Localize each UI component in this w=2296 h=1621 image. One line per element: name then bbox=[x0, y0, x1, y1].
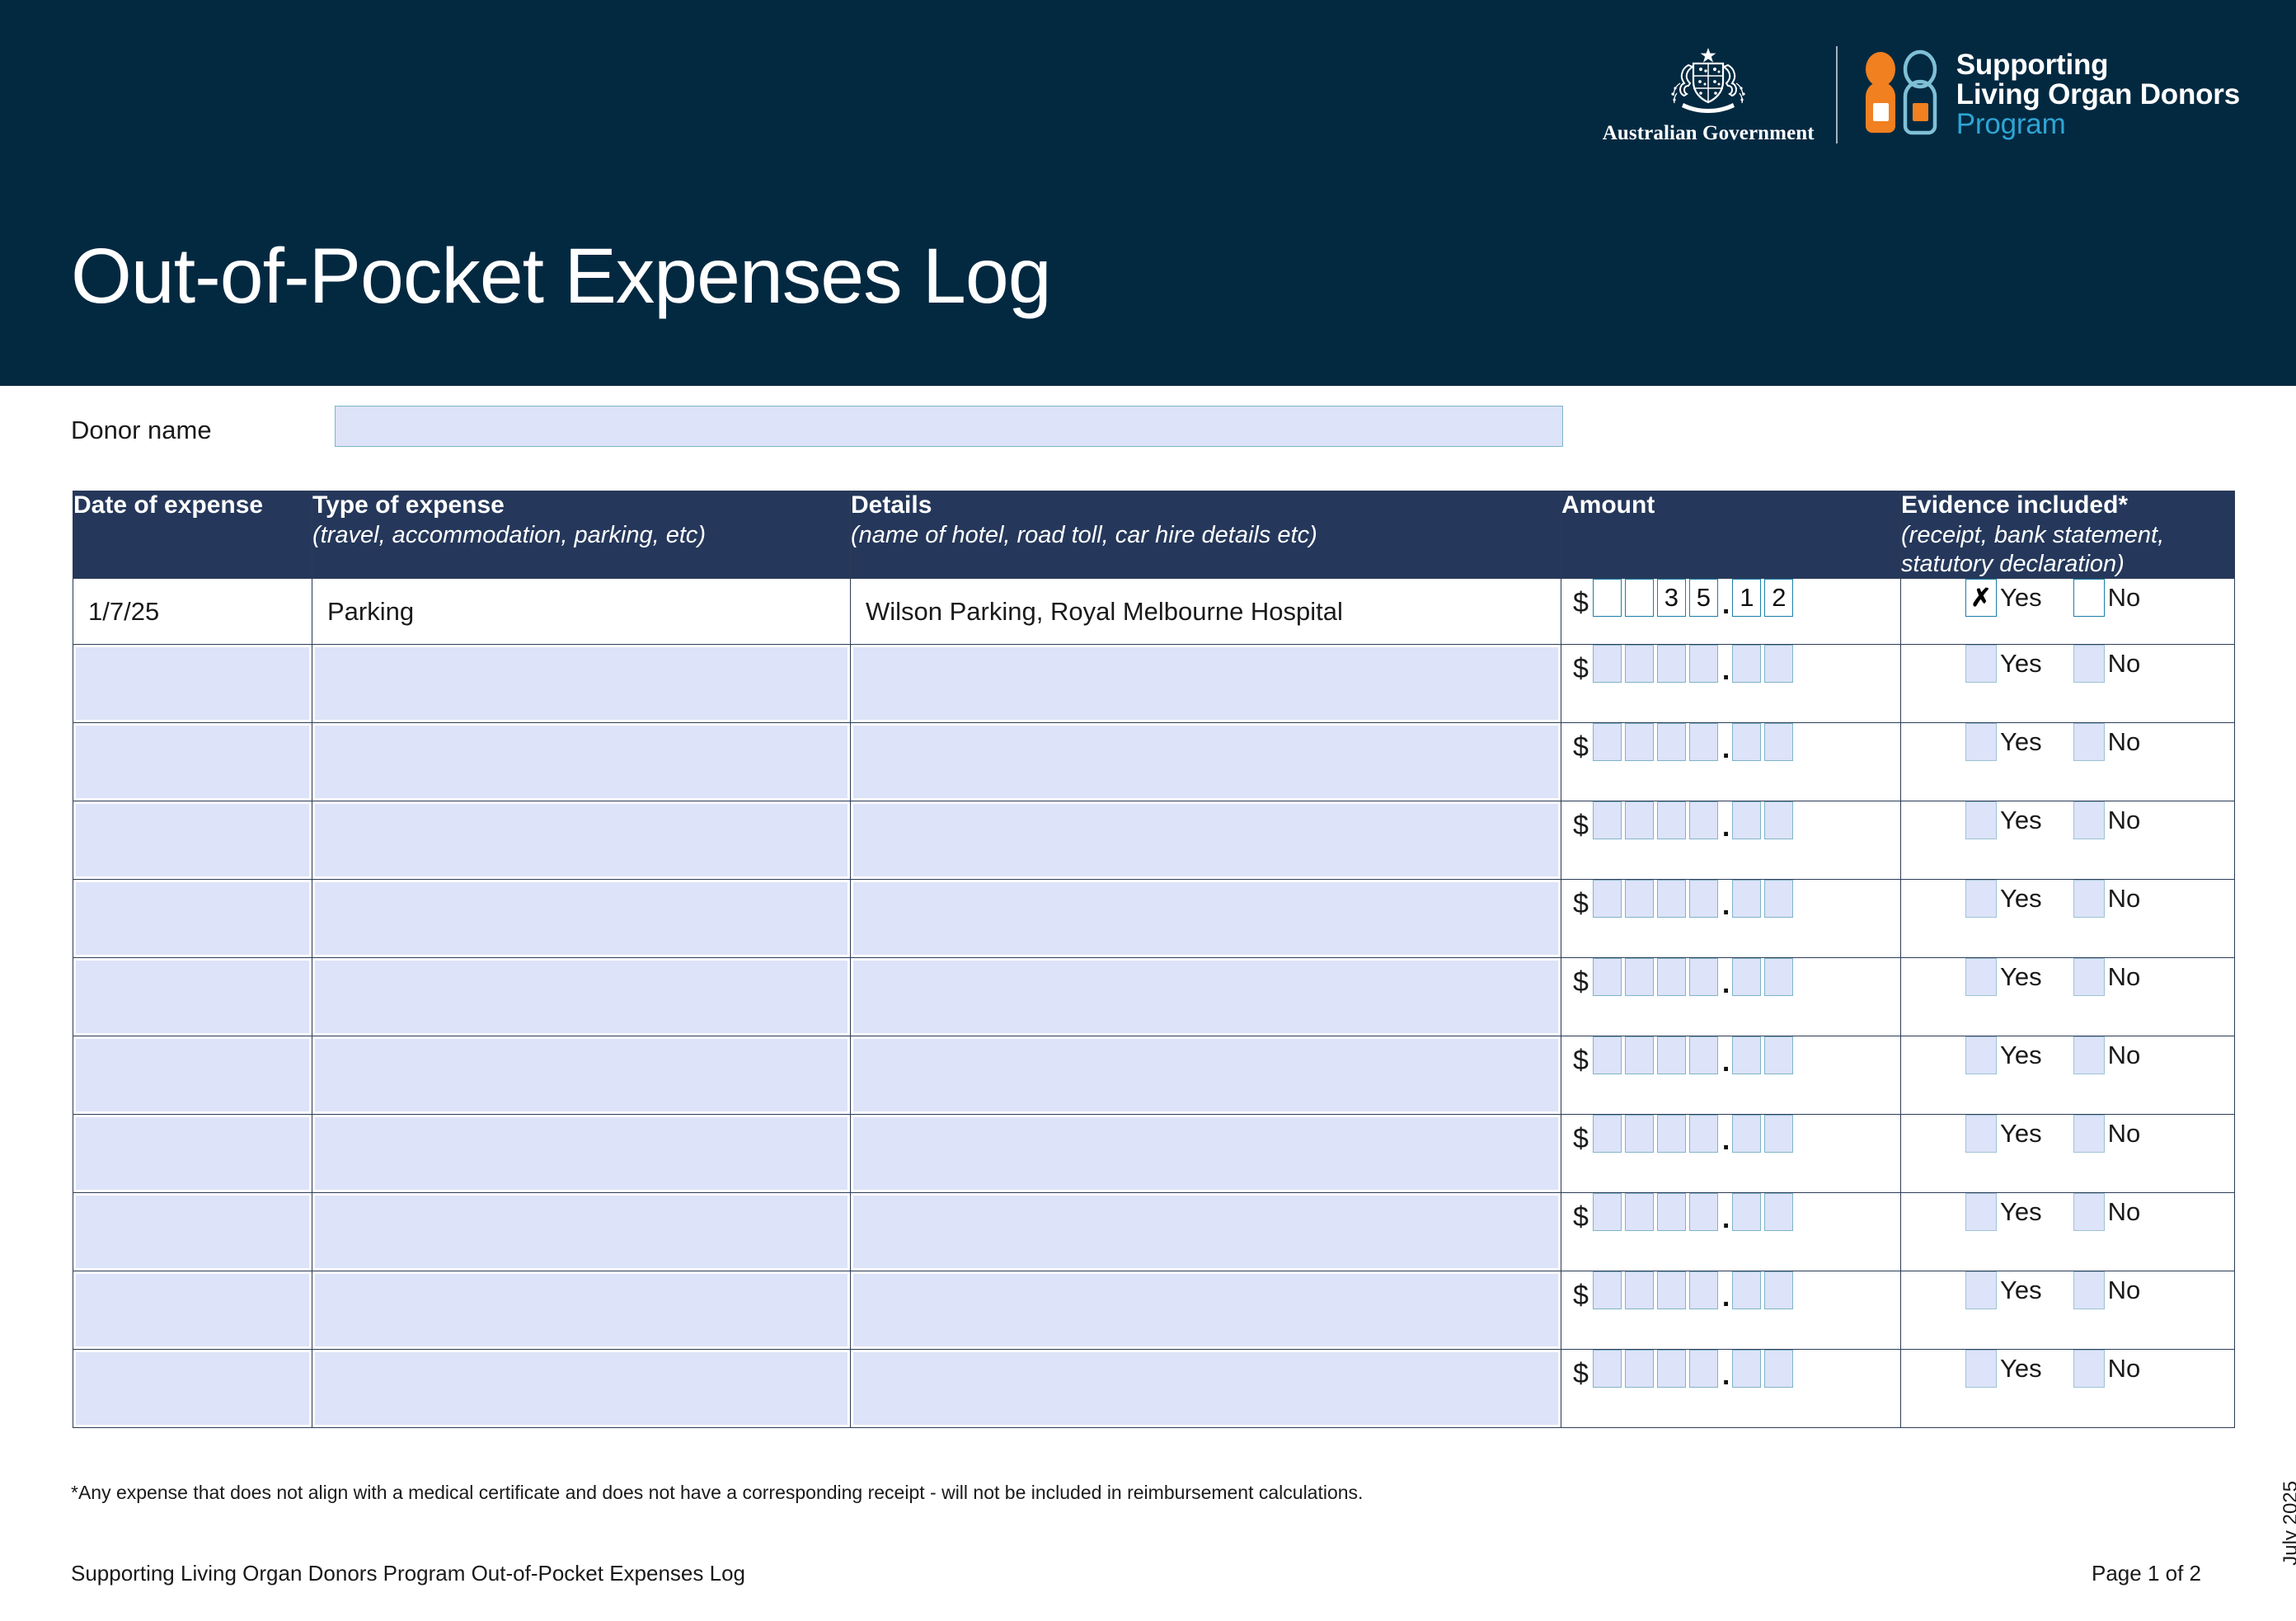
evidence-yes-checkbox[interactable]: ✗ bbox=[1965, 579, 1997, 617]
amount-cents-box[interactable] bbox=[1732, 1350, 1761, 1388]
cell-details[interactable]: Wilson Parking, Royal Melbourne Hospital bbox=[851, 579, 1561, 645]
currency-symbol: $ bbox=[1573, 1360, 1589, 1388]
evidence-no-checkbox[interactable] bbox=[2073, 1193, 2105, 1231]
cell-date[interactable] bbox=[73, 1271, 312, 1350]
amount-boxes: $. bbox=[1561, 1271, 1900, 1309]
logo-lockup: Australian Government Supporting Living … bbox=[1603, 43, 2240, 147]
cell-type[interactable]: Parking bbox=[312, 579, 851, 645]
amount-digit-box[interactable] bbox=[1593, 723, 1622, 761]
amount-boxes: $35.12 bbox=[1561, 579, 1900, 617]
decimal-separator: . bbox=[1722, 970, 1730, 998]
evidence-yes-label: Yes bbox=[2000, 727, 2042, 757]
amount-digit-box[interactable] bbox=[1593, 1350, 1622, 1388]
amount-cents-box[interactable] bbox=[1764, 723, 1793, 761]
table-body: 1/7/25ParkingWilson Parking, Royal Melbo… bbox=[73, 579, 2235, 1428]
column-header-type: Type of expense (travel, accommodation, … bbox=[312, 491, 851, 579]
evidence-no-checkbox[interactable] bbox=[2073, 1115, 2105, 1153]
cell-date[interactable]: 1/7/25 bbox=[73, 579, 312, 645]
evidence-no-label: No bbox=[2108, 1119, 2141, 1149]
amount-digit-box[interactable] bbox=[1657, 723, 1686, 761]
amount-digit-box[interactable] bbox=[1625, 579, 1654, 617]
cell-details-text bbox=[851, 1350, 1561, 1368]
coat-of-arms-icon bbox=[1664, 45, 1753, 118]
evidence-yes-label: Yes bbox=[2000, 649, 2042, 679]
donor-name-label: Donor name bbox=[71, 416, 212, 445]
cell-type-text bbox=[312, 723, 850, 741]
amount-boxes: $. bbox=[1561, 1193, 1900, 1231]
cell-type-text bbox=[312, 880, 850, 898]
evidence-no-label: No bbox=[2108, 583, 2141, 613]
amount-cents-box[interactable] bbox=[1764, 958, 1793, 996]
amount-boxes: $. bbox=[1561, 1115, 1900, 1153]
cell-amount[interactable]: $. bbox=[1561, 1115, 1901, 1193]
cell-type-text bbox=[312, 1193, 850, 1211]
amount-digit-box[interactable]: 5 bbox=[1689, 579, 1718, 617]
cell-type-text bbox=[312, 1271, 850, 1290]
table-row: $.YesNo bbox=[73, 958, 2235, 1036]
evidence-options: YesNo bbox=[1901, 723, 2234, 761]
cell-amount[interactable]: $. bbox=[1561, 645, 1901, 723]
amount-boxes: $. bbox=[1561, 880, 1900, 918]
evidence-no-label: No bbox=[2108, 1276, 2141, 1305]
evidence-yes-checkbox[interactable] bbox=[1965, 1193, 1997, 1231]
cell-amount[interactable]: $. bbox=[1561, 1193, 1901, 1271]
amount-digit-box[interactable] bbox=[1689, 1036, 1718, 1074]
table-header: Date of expense Type of expense (travel,… bbox=[73, 491, 2235, 579]
cell-type[interactable] bbox=[312, 1271, 851, 1350]
evidence-yes-label: Yes bbox=[2000, 806, 2042, 835]
lockup-divider bbox=[1836, 46, 1838, 143]
cell-type-text bbox=[312, 645, 850, 663]
currency-symbol: $ bbox=[1573, 968, 1589, 996]
amount-cents-box[interactable] bbox=[1764, 801, 1793, 839]
cell-amount[interactable]: $. bbox=[1561, 1271, 1901, 1350]
table-row: $.YesNo bbox=[73, 880, 2235, 958]
amount-digit-box[interactable] bbox=[1625, 1271, 1654, 1309]
page-title: Out-of-Pocket Expenses Log bbox=[71, 237, 1051, 316]
footer-document-title: Supporting Living Organ Donors Program O… bbox=[71, 1561, 745, 1586]
amount-digit-box[interactable] bbox=[1625, 1036, 1654, 1074]
cell-type[interactable] bbox=[312, 1193, 851, 1271]
evidence-no-checkbox[interactable] bbox=[2073, 1036, 2105, 1074]
evidence-yes-label: Yes bbox=[2000, 962, 2042, 992]
donor-name-row: Donor name bbox=[71, 406, 1613, 452]
evidence-options: YesNo bbox=[1901, 958, 2234, 996]
decimal-separator: . bbox=[1722, 1205, 1730, 1233]
evidence-options: YesNo bbox=[1901, 1036, 2234, 1074]
cell-date[interactable] bbox=[73, 645, 312, 723]
amount-digit-box[interactable] bbox=[1689, 880, 1718, 918]
column-header-date-title: Date of expense bbox=[73, 491, 312, 520]
table-header-row: Date of expense Type of expense (travel,… bbox=[73, 491, 2235, 579]
table-row: $.YesNo bbox=[73, 1193, 2235, 1271]
decimal-separator: . bbox=[1722, 1361, 1730, 1389]
evidence-yes-label: Yes bbox=[2000, 1276, 2042, 1305]
cell-details[interactable] bbox=[851, 1193, 1561, 1271]
evidence-yes-checkbox[interactable] bbox=[1965, 1036, 1997, 1074]
table-row: $.YesNo bbox=[73, 1271, 2235, 1350]
evidence-options: YesNo bbox=[1901, 645, 2234, 683]
crest-caption: Australian Government bbox=[1603, 122, 1815, 145]
amount-digit-box[interactable] bbox=[1657, 801, 1686, 839]
decimal-separator: . bbox=[1722, 1126, 1730, 1154]
cell-details-text bbox=[851, 801, 1561, 820]
evidence-no-label: No bbox=[2108, 1354, 2141, 1384]
amount-digit-box[interactable] bbox=[1689, 958, 1718, 996]
table-row: $.YesNo bbox=[73, 1350, 2235, 1428]
currency-symbol: $ bbox=[1573, 655, 1589, 683]
cell-details[interactable] bbox=[851, 880, 1561, 958]
amount-cents-box[interactable]: 1 bbox=[1732, 579, 1761, 617]
amount-digit-box[interactable] bbox=[1593, 1036, 1622, 1074]
cell-type[interactable] bbox=[312, 801, 851, 880]
table-row: $.YesNo bbox=[73, 645, 2235, 723]
program-wordmark: Supporting Living Organ Donors Program bbox=[1956, 50, 2240, 139]
amount-boxes: $. bbox=[1561, 958, 1900, 996]
currency-symbol: $ bbox=[1573, 811, 1589, 839]
amount-digit-box[interactable] bbox=[1593, 1193, 1622, 1231]
cell-details-text bbox=[851, 1036, 1561, 1055]
cell-date-text bbox=[73, 1115, 312, 1133]
currency-symbol: $ bbox=[1573, 589, 1589, 617]
evidence-options: YesNo bbox=[1901, 1350, 2234, 1388]
cell-type[interactable] bbox=[312, 723, 851, 801]
amount-digit-box[interactable] bbox=[1625, 1350, 1654, 1388]
cell-details[interactable] bbox=[851, 723, 1561, 801]
cell-type-text bbox=[312, 1350, 850, 1368]
currency-symbol: $ bbox=[1573, 1046, 1589, 1074]
table-row: $.YesNo bbox=[73, 801, 2235, 880]
evidence-yes-checkbox[interactable] bbox=[1965, 723, 1997, 761]
cell-details-text bbox=[851, 1115, 1561, 1133]
cell-evidence[interactable]: YesNo bbox=[1901, 1350, 2235, 1428]
australian-government-crest: Australian Government bbox=[1603, 43, 1836, 147]
evidence-no-checkbox[interactable] bbox=[2073, 1350, 2105, 1388]
amount-digit-box[interactable] bbox=[1689, 723, 1718, 761]
evidence-no-label: No bbox=[2108, 727, 2141, 757]
column-header-amount: Amount bbox=[1561, 491, 1901, 579]
evidence-options: YesNo bbox=[1901, 801, 2234, 839]
amount-digit-box[interactable] bbox=[1593, 645, 1622, 683]
amount-digit-box[interactable] bbox=[1657, 1271, 1686, 1309]
amount-cents-box[interactable] bbox=[1764, 1115, 1793, 1153]
cell-date-text bbox=[73, 1271, 312, 1290]
amount-cents-box[interactable] bbox=[1732, 880, 1761, 918]
evidence-no-checkbox[interactable] bbox=[2073, 801, 2105, 839]
program-line-3: Program bbox=[1956, 110, 2240, 139]
evidence-yes-label: Yes bbox=[2000, 1041, 2042, 1070]
cell-details-text bbox=[851, 723, 1561, 741]
currency-symbol: $ bbox=[1573, 1281, 1589, 1309]
cell-evidence[interactable]: YesNo bbox=[1901, 1271, 2235, 1350]
evidence-options: YesNo bbox=[1901, 1115, 2234, 1153]
amount-digit-box[interactable] bbox=[1625, 1193, 1654, 1231]
amount-cents-box[interactable] bbox=[1732, 1193, 1761, 1231]
cell-date[interactable] bbox=[73, 1036, 312, 1115]
cell-date-text bbox=[73, 1193, 312, 1211]
cell-type-text: Parking bbox=[312, 579, 850, 627]
column-header-type-title: Type of expense bbox=[312, 491, 850, 520]
amount-digit-box[interactable] bbox=[1657, 1193, 1686, 1231]
cell-type-text bbox=[312, 801, 850, 820]
cell-details[interactable] bbox=[851, 1271, 1561, 1350]
column-header-amount-title: Amount bbox=[1561, 491, 1900, 520]
page-banner: Out-of-Pocket Expenses Log bbox=[0, 0, 2296, 386]
cell-amount[interactable]: $. bbox=[1561, 723, 1901, 801]
amount-boxes: $. bbox=[1561, 1036, 1900, 1074]
cell-type-text bbox=[312, 1115, 850, 1133]
cell-details-text bbox=[851, 1271, 1561, 1290]
cell-evidence[interactable]: YesNo bbox=[1901, 645, 2235, 723]
cell-type-text bbox=[312, 958, 850, 976]
amount-cents-box[interactable] bbox=[1732, 1271, 1761, 1309]
amount-cents-box[interactable] bbox=[1764, 880, 1793, 918]
amount-digit-box[interactable] bbox=[1689, 1115, 1718, 1153]
amount-digit-box[interactable] bbox=[1657, 1350, 1686, 1388]
amount-cents-box[interactable] bbox=[1764, 1271, 1793, 1309]
currency-symbol: $ bbox=[1573, 890, 1589, 918]
amount-digit-box[interactable] bbox=[1689, 801, 1718, 839]
cell-evidence[interactable]: ✗YesNo bbox=[1901, 579, 2235, 645]
cell-amount[interactable]: $. bbox=[1561, 1036, 1901, 1115]
table-row: $.YesNo bbox=[73, 1115, 2235, 1193]
evidence-no-label: No bbox=[2108, 962, 2141, 992]
amount-digit-box[interactable] bbox=[1593, 1115, 1622, 1153]
cell-details-text: Wilson Parking, Royal Melbourne Hospital bbox=[851, 579, 1561, 627]
cell-details[interactable] bbox=[851, 1036, 1561, 1115]
amount-cents-box[interactable] bbox=[1732, 723, 1761, 761]
column-header-evidence-title: Evidence included* bbox=[1901, 491, 2234, 520]
amount-cents-box[interactable] bbox=[1764, 1193, 1793, 1231]
amount-boxes: $. bbox=[1561, 723, 1900, 761]
amount-cents-box[interactable] bbox=[1732, 1036, 1761, 1074]
evidence-yes-checkbox[interactable] bbox=[1965, 958, 1997, 996]
evidence-yes-checkbox[interactable] bbox=[1965, 1115, 1997, 1153]
amount-cents-box[interactable] bbox=[1732, 958, 1761, 996]
column-header-type-subtitle: (travel, accommodation, parking, etc) bbox=[312, 521, 850, 550]
evidence-no-label: No bbox=[2108, 806, 2141, 835]
column-header-details-title: Details bbox=[851, 491, 1561, 520]
decimal-separator: . bbox=[1722, 1283, 1730, 1311]
evidence-yes-checkbox[interactable] bbox=[1965, 1271, 1997, 1309]
amount-digit-box[interactable] bbox=[1689, 645, 1718, 683]
evidence-no-checkbox[interactable] bbox=[2073, 723, 2105, 761]
cell-type[interactable] bbox=[312, 1036, 851, 1115]
donor-name-input[interactable] bbox=[335, 406, 1563, 447]
column-header-evidence-subtitle: (receipt, bank statement, statutory decl… bbox=[1901, 521, 2234, 579]
decimal-separator: . bbox=[1722, 813, 1730, 841]
amount-digit-box[interactable] bbox=[1625, 645, 1654, 683]
amount-cents-box[interactable] bbox=[1732, 645, 1761, 683]
cell-details[interactable] bbox=[851, 801, 1561, 880]
amount-digit-box[interactable] bbox=[1657, 645, 1686, 683]
amount-cents-box[interactable]: 2 bbox=[1764, 579, 1793, 617]
table-row: 1/7/25ParkingWilson Parking, Royal Melbo… bbox=[73, 579, 2235, 645]
amount-cents-box[interactable] bbox=[1732, 801, 1761, 839]
amount-digit-box[interactable] bbox=[1657, 1115, 1686, 1153]
cell-amount[interactable]: $. bbox=[1561, 801, 1901, 880]
amount-digit-box[interactable]: 3 bbox=[1657, 579, 1686, 617]
footnote: *Any expense that does not align with a … bbox=[71, 1482, 1363, 1504]
currency-symbol: $ bbox=[1573, 733, 1589, 761]
cell-type[interactable] bbox=[312, 1350, 851, 1428]
amount-digit-box[interactable] bbox=[1625, 723, 1654, 761]
amount-digit-box[interactable] bbox=[1593, 958, 1622, 996]
cell-date-text bbox=[73, 723, 312, 741]
evidence-no-label: No bbox=[2108, 649, 2141, 679]
cell-date-text bbox=[73, 1036, 312, 1055]
amount-boxes: $. bbox=[1561, 645, 1900, 683]
cell-date[interactable] bbox=[73, 880, 312, 958]
cell-type-text bbox=[312, 1036, 850, 1055]
cell-amount[interactable]: $35.12 bbox=[1561, 579, 1901, 645]
decimal-separator: . bbox=[1722, 590, 1730, 618]
cell-type[interactable] bbox=[312, 645, 851, 723]
evidence-yes-label: Yes bbox=[2000, 1119, 2042, 1149]
cell-type[interactable] bbox=[312, 958, 851, 1036]
amount-digit-box[interactable] bbox=[1625, 958, 1654, 996]
amount-digit-box[interactable] bbox=[1593, 1271, 1622, 1309]
cell-date-text bbox=[73, 801, 312, 820]
cell-type[interactable] bbox=[312, 1115, 851, 1193]
cell-details-text bbox=[851, 958, 1561, 976]
footer-page-number: Page 1 of 2 bbox=[2092, 1561, 2201, 1586]
amount-digit-box[interactable] bbox=[1657, 880, 1686, 918]
cell-details[interactable] bbox=[851, 1350, 1561, 1428]
cell-details[interactable] bbox=[851, 645, 1561, 723]
column-header-details-subtitle: (name of hotel, road toll, car hire deta… bbox=[851, 521, 1561, 550]
column-header-evidence: Evidence included* (receipt, bank statem… bbox=[1901, 491, 2235, 579]
amount-cents-box[interactable] bbox=[1764, 1036, 1793, 1074]
amount-digit-box[interactable] bbox=[1689, 1271, 1718, 1309]
amount-boxes: $. bbox=[1561, 801, 1900, 839]
amount-digit-box[interactable] bbox=[1593, 801, 1622, 839]
cell-date[interactable] bbox=[73, 958, 312, 1036]
currency-symbol: $ bbox=[1573, 1125, 1589, 1153]
cell-date-text: 1/7/25 bbox=[73, 579, 312, 627]
cell-evidence[interactable]: YesNo bbox=[1901, 958, 2235, 1036]
evidence-yes-label: Yes bbox=[2000, 1354, 2042, 1384]
evidence-no-checkbox[interactable] bbox=[2073, 958, 2105, 996]
amount-digit-box[interactable] bbox=[1625, 801, 1654, 839]
cell-evidence[interactable]: YesNo bbox=[1901, 1193, 2235, 1271]
cell-details[interactable] bbox=[851, 1115, 1561, 1193]
two-people-logo-icon bbox=[1861, 49, 1942, 141]
evidence-yes-checkbox[interactable] bbox=[1965, 1350, 1997, 1388]
evidence-no-label: No bbox=[2108, 1197, 2141, 1227]
cell-details-text bbox=[851, 645, 1561, 663]
currency-symbol: $ bbox=[1573, 1203, 1589, 1231]
cell-evidence[interactable]: YesNo bbox=[1901, 1115, 2235, 1193]
decimal-separator: . bbox=[1722, 656, 1730, 684]
evidence-options: YesNo bbox=[1901, 1271, 2234, 1309]
cell-details-text bbox=[851, 880, 1561, 898]
evidence-yes-label: Yes bbox=[2000, 583, 2042, 613]
column-header-date: Date of expense bbox=[73, 491, 312, 579]
cell-date[interactable] bbox=[73, 1350, 312, 1428]
amount-cents-box[interactable] bbox=[1732, 1115, 1761, 1153]
cell-type[interactable] bbox=[312, 880, 851, 958]
amount-cents-box[interactable] bbox=[1764, 1350, 1793, 1388]
amount-digit-box[interactable] bbox=[1625, 880, 1654, 918]
evidence-no-checkbox[interactable] bbox=[2073, 645, 2105, 683]
cell-date[interactable] bbox=[73, 1193, 312, 1271]
column-header-details: Details (name of hotel, road toll, car h… bbox=[851, 491, 1561, 579]
cell-evidence[interactable]: YesNo bbox=[1901, 1036, 2235, 1115]
evidence-yes-checkbox[interactable] bbox=[1965, 880, 1997, 918]
evidence-yes-checkbox[interactable] bbox=[1965, 801, 1997, 839]
expenses-log-table: Date of expense Type of expense (travel,… bbox=[73, 491, 2235, 1428]
cell-details-text bbox=[851, 1193, 1561, 1211]
amount-digit-box[interactable] bbox=[1625, 1115, 1654, 1153]
cell-evidence[interactable]: YesNo bbox=[1901, 880, 2235, 958]
cell-date-text bbox=[73, 880, 312, 898]
cell-amount[interactable]: $. bbox=[1561, 880, 1901, 958]
evidence-no-label: No bbox=[2108, 1041, 2141, 1070]
decimal-separator: . bbox=[1722, 735, 1730, 763]
cell-date-text bbox=[73, 958, 312, 976]
program-line-1: Supporting bbox=[1956, 50, 2240, 80]
cell-date[interactable] bbox=[73, 1115, 312, 1193]
evidence-yes-checkbox[interactable] bbox=[1965, 645, 1997, 683]
program-line-2: Living Organ Donors bbox=[1956, 80, 2240, 110]
cell-date-text bbox=[73, 1350, 312, 1368]
cell-date-text bbox=[73, 645, 312, 663]
evidence-yes-label: Yes bbox=[2000, 884, 2042, 914]
amount-digit-box[interactable] bbox=[1593, 880, 1622, 918]
cell-amount[interactable]: $. bbox=[1561, 1350, 1901, 1428]
amount-boxes: $. bbox=[1561, 1350, 1900, 1388]
table-row: $.YesNo bbox=[73, 1036, 2235, 1115]
decimal-separator: . bbox=[1722, 1048, 1730, 1076]
amount-digit-box[interactable] bbox=[1657, 1036, 1686, 1074]
cell-date[interactable] bbox=[73, 723, 312, 801]
evidence-no-checkbox[interactable] bbox=[2073, 1271, 2105, 1309]
amount-digit-box[interactable] bbox=[1657, 958, 1686, 996]
evidence-no-checkbox[interactable] bbox=[2073, 579, 2105, 617]
evidence-options: YesNo bbox=[1901, 880, 2234, 918]
cell-amount[interactable]: $. bbox=[1561, 958, 1901, 1036]
evidence-yes-label: Yes bbox=[2000, 1197, 2042, 1227]
cell-date[interactable] bbox=[73, 801, 312, 880]
footer-side-date: July 2025 bbox=[2280, 1481, 2296, 1566]
evidence-no-checkbox[interactable] bbox=[2073, 880, 2105, 918]
cell-evidence[interactable]: YesNo bbox=[1901, 801, 2235, 880]
amount-digit-box[interactable] bbox=[1689, 1350, 1718, 1388]
decimal-separator: . bbox=[1722, 891, 1730, 919]
amount-digit-box[interactable] bbox=[1689, 1193, 1718, 1231]
amount-digit-box[interactable] bbox=[1593, 579, 1622, 617]
cell-evidence[interactable]: YesNo bbox=[1901, 723, 2235, 801]
cell-details[interactable] bbox=[851, 958, 1561, 1036]
amount-cents-box[interactable] bbox=[1764, 645, 1793, 683]
evidence-options: ✗YesNo bbox=[1901, 579, 2234, 617]
evidence-no-label: No bbox=[2108, 884, 2141, 914]
evidence-options: YesNo bbox=[1901, 1193, 2234, 1231]
table-row: $.YesNo bbox=[73, 723, 2235, 801]
